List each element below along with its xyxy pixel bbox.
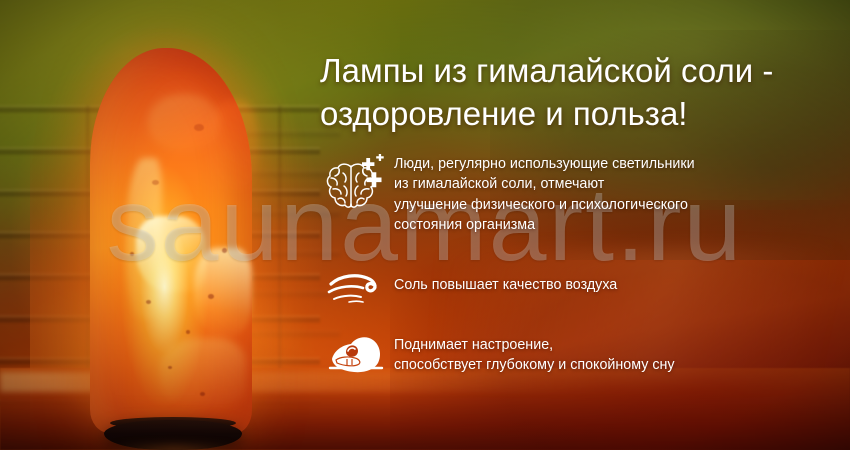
wind-swirl-icon bbox=[320, 259, 394, 305]
feature-item-air: Соль повышает качество воздуха bbox=[320, 259, 840, 305]
brain-plus-icon bbox=[320, 152, 394, 214]
salt-lamp-promo-banner: saunamart.ru Лампы из гималайской соли -… bbox=[0, 0, 850, 450]
feature-text-air: Соль повышает качество воздуха bbox=[394, 259, 617, 295]
feature-item-sleep: Поднимает настроение, способствует глубо… bbox=[320, 327, 840, 377]
feature-brain-line-1: Люди, регулярно использующие светильники bbox=[394, 154, 695, 174]
feature-brain-line-2: из гималайской соли, отмечают bbox=[394, 174, 695, 194]
feature-item-brain: Люди, регулярно использующие светильники… bbox=[320, 152, 840, 235]
feature-brain-line-3: улучшение физического и психологического bbox=[394, 195, 695, 215]
feature-air-line-1: Соль повышает качество воздуха bbox=[394, 275, 617, 295]
headline-line-1: Лампы из гималайской соли - bbox=[320, 50, 840, 93]
feature-list: Люди, регулярно использующие светильники… bbox=[320, 152, 840, 377]
feature-sleep-line-1: Поднимает настроение, bbox=[394, 335, 675, 355]
feature-brain-line-4: состояния организма bbox=[394, 215, 695, 235]
feature-text-brain: Люди, регулярно использующие светильники… bbox=[394, 152, 695, 235]
banner-headline: Лампы из гималайской соли - оздоровление… bbox=[320, 50, 840, 136]
feature-sleep-line-2: способствует глубокому и спокойному сну bbox=[394, 355, 675, 375]
feature-text-sleep: Поднимает настроение, способствует глубо… bbox=[394, 327, 675, 376]
sleeping-person-icon bbox=[320, 327, 394, 377]
headline-line-2: оздоровление и польза! bbox=[320, 93, 840, 136]
